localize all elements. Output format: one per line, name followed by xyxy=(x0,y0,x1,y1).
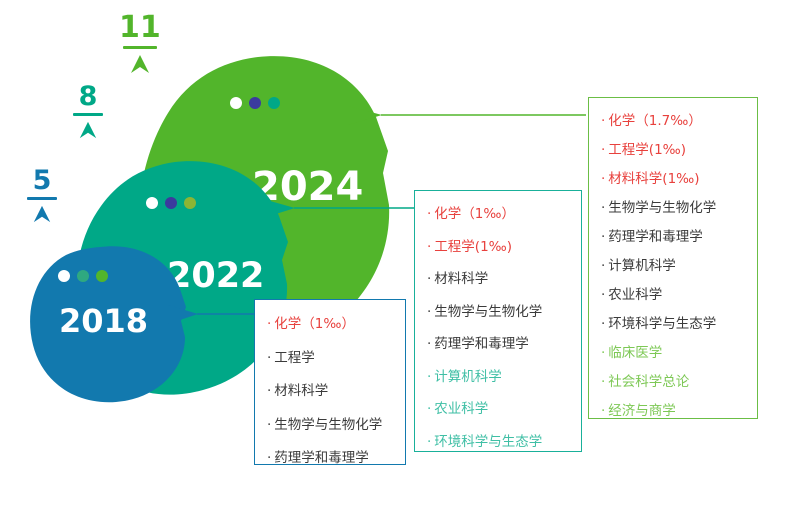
discipline-label: 计算机科学 xyxy=(434,371,502,385)
list-item: · 工程学 xyxy=(267,352,405,366)
list-item: · 工程学(1‰) xyxy=(601,144,757,158)
bullet: · xyxy=(267,419,271,433)
discipline-label: 生物学与生物化学 xyxy=(434,306,542,320)
metric-marker-2018: 5 xyxy=(27,168,57,229)
list-item: · 临床医学 xyxy=(601,347,757,361)
bullet: · xyxy=(601,318,605,332)
discipline-list-2024: · 化学（1.7‰） · 工程学(1‰) · 材料科学(1‰) · 生物学与生物… xyxy=(589,98,757,419)
list-item: · 材料科学(1‰) xyxy=(601,173,757,187)
list-item: · 环境科学与生态学 xyxy=(601,318,757,332)
bullet: · xyxy=(427,241,431,255)
list-item: · 材料科学 xyxy=(427,273,581,287)
bullet: · xyxy=(427,208,431,222)
bullet: · xyxy=(601,405,605,419)
discipline-label: 生物学与生物化学 xyxy=(274,419,382,433)
bullet: · xyxy=(601,202,605,216)
dot-white xyxy=(230,97,242,109)
list-item: · 经济与商学 xyxy=(601,405,757,419)
bullet: · xyxy=(601,173,605,187)
discipline-label: 生物学与生物化学 xyxy=(608,202,716,216)
discipline-label: 药理学和毒理学 xyxy=(434,338,529,352)
arrow-head-icon xyxy=(168,305,198,324)
dot-green xyxy=(96,270,108,282)
discipline-box-2022: · 化学（1‰） · 工程学(1‰) · 材料科学 · 生物学与生物化学 · 药… xyxy=(414,190,582,452)
bullet: · xyxy=(267,352,271,366)
bullet: · xyxy=(427,371,431,385)
list-item: · 计算机科学 xyxy=(427,371,581,385)
discipline-label: 药理学和毒理学 xyxy=(274,452,369,466)
list-item: · 生物学与生物化学 xyxy=(427,306,581,320)
dot-olive xyxy=(184,197,196,209)
connector-2024 xyxy=(348,103,588,129)
list-item: · 药理学和毒理学 xyxy=(427,338,581,352)
discipline-label: 环境科学与生态学 xyxy=(434,436,542,450)
discipline-list-2022: · 化学（1‰） · 工程学(1‰) · 材料科学 · 生物学与生物化学 · 药… xyxy=(415,191,581,449)
bullet: · xyxy=(601,144,605,158)
list-item: · 农业科学 xyxy=(427,403,581,417)
dot-purple xyxy=(249,97,261,109)
metric-rule-2022 xyxy=(73,113,103,116)
bullet: · xyxy=(427,436,431,450)
metric-rule-2024 xyxy=(123,46,157,49)
discipline-label: 计算机科学 xyxy=(608,260,676,274)
dot-midgreen xyxy=(77,270,89,282)
discipline-label: 化学（1‰） xyxy=(434,208,515,222)
discipline-label: 工程学(1‰) xyxy=(434,241,512,255)
discipline-label: 工程学(1‰) xyxy=(608,144,686,158)
metric-marker-2024: 11 xyxy=(119,14,161,80)
blob-2022-dots xyxy=(146,197,196,209)
discipline-label: 化学（1.7‰） xyxy=(608,115,702,129)
list-item: · 化学（1‰） xyxy=(427,208,581,222)
discipline-label: 材料科学(1‰) xyxy=(608,173,699,187)
bullet: · xyxy=(427,338,431,352)
list-item: · 生物学与生物化学 xyxy=(267,419,405,433)
bullet: · xyxy=(601,376,605,390)
connector-2018 xyxy=(168,302,258,328)
discipline-box-2018: · 化学（1‰） · 工程学 · 材料科学 · 生物学与生物化学 · 药理学和毒… xyxy=(254,299,406,465)
connector-2022 xyxy=(263,196,418,222)
discipline-label: 工程学 xyxy=(274,352,315,366)
discipline-label: 农业科学 xyxy=(608,289,662,303)
bullet: · xyxy=(267,385,271,399)
metric-value-2024: 11 xyxy=(119,14,161,43)
blob-2018: 2018 xyxy=(28,245,188,405)
dot-teal xyxy=(268,97,280,109)
arrow-head-icon xyxy=(263,199,295,218)
up-arrow-icon xyxy=(32,204,52,229)
discipline-label: 材料科学 xyxy=(274,385,328,399)
discipline-list-2018: · 化学（1‰） · 工程学 · 材料科学 · 生物学与生物化学 · 药理学和毒… xyxy=(255,300,405,466)
list-item: · 药理学和毒理学 xyxy=(601,231,757,245)
discipline-box-2024: · 化学（1.7‰） · 工程学(1‰) · 材料科学(1‰) · 生物学与生物… xyxy=(588,97,758,419)
bullet: · xyxy=(601,115,605,129)
discipline-label: 化学（1‰） xyxy=(274,318,355,332)
list-item: · 药理学和毒理学 xyxy=(267,452,405,466)
arrow-head-icon xyxy=(348,106,382,125)
dot-white xyxy=(146,197,158,209)
blob-2018-dots xyxy=(58,270,108,282)
discipline-label: 临床医学 xyxy=(608,347,662,361)
metric-value-2018: 5 xyxy=(33,168,52,194)
list-item: · 化学（1.7‰） xyxy=(601,115,757,129)
bullet: · xyxy=(601,260,605,274)
up-arrow-icon xyxy=(78,120,98,145)
list-item: · 化学（1‰） xyxy=(267,318,405,332)
blob-2024-dots xyxy=(230,97,280,109)
metric-rule-2018 xyxy=(27,197,57,200)
bullet: · xyxy=(601,347,605,361)
list-item: · 农业科学 xyxy=(601,289,757,303)
metric-marker-2022: 8 xyxy=(73,84,103,145)
discipline-label: 社会科学总论 xyxy=(608,376,689,390)
metric-value-2022: 8 xyxy=(79,84,98,110)
discipline-label: 环境科学与生态学 xyxy=(608,318,716,332)
bullet: · xyxy=(427,403,431,417)
bullet: · xyxy=(601,231,605,245)
bullet: · xyxy=(267,452,271,466)
list-item: · 工程学(1‰) xyxy=(427,241,581,255)
discipline-label: 农业科学 xyxy=(434,403,488,417)
list-item: · 环境科学与生态学 xyxy=(427,436,581,450)
discipline-label: 材料科学 xyxy=(434,273,488,287)
infographic-canvas: 2024 2022 2018 11 xyxy=(0,0,798,513)
list-item: · 生物学与生物化学 xyxy=(601,202,757,216)
up-arrow-icon xyxy=(129,53,151,80)
list-item: · 材料科学 xyxy=(267,385,405,399)
dot-white xyxy=(58,270,70,282)
bullet: · xyxy=(427,273,431,287)
list-item: · 计算机科学 xyxy=(601,260,757,274)
bullet: · xyxy=(267,318,271,332)
discipline-label: 经济与商学 xyxy=(608,405,676,419)
bullet: · xyxy=(601,289,605,303)
discipline-label: 药理学和毒理学 xyxy=(608,231,703,245)
blob-2018-year: 2018 xyxy=(59,305,148,337)
bullet: · xyxy=(427,306,431,320)
dot-purple xyxy=(165,197,177,209)
list-item: · 社会科学总论 xyxy=(601,376,757,390)
